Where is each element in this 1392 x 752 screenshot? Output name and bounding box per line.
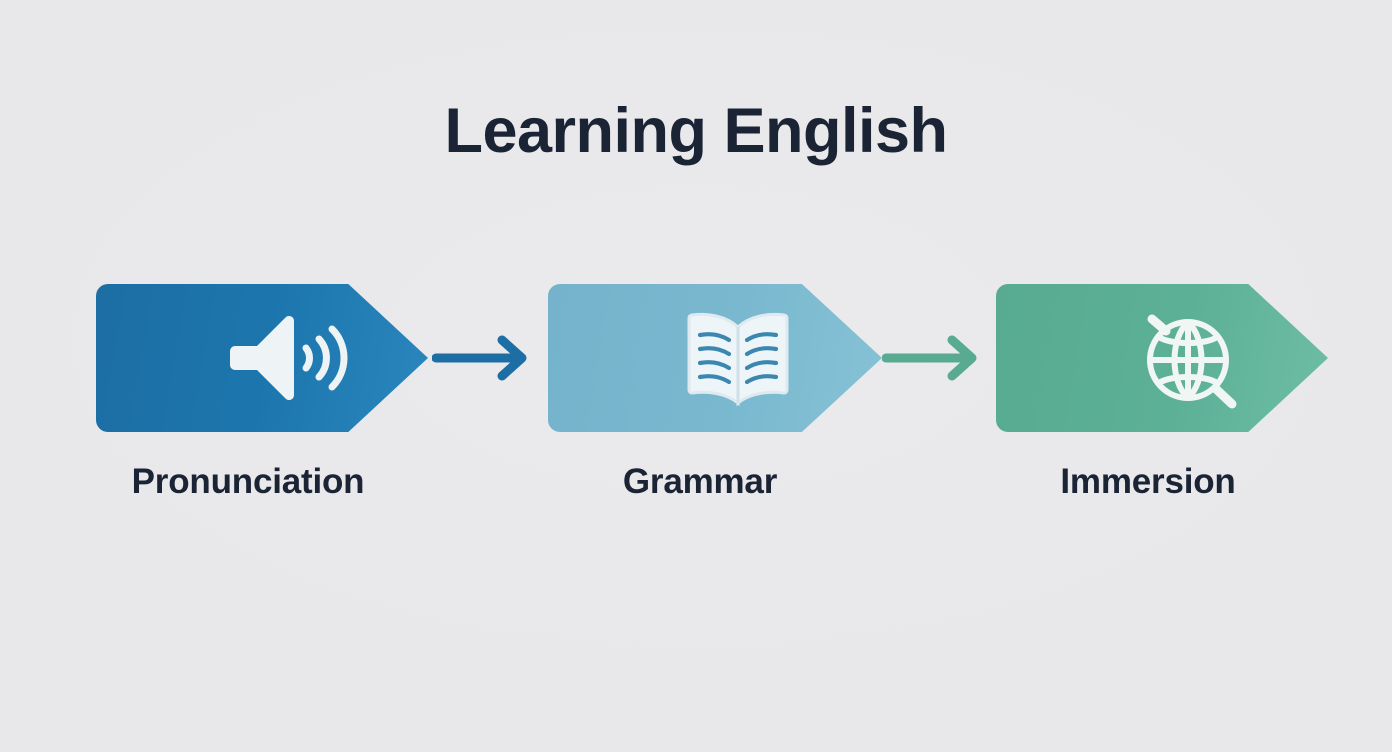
flow-label-grammar: Grammar bbox=[548, 462, 852, 502]
arrow-right-icon-2 bbox=[882, 332, 990, 384]
speaker-volume-icon bbox=[224, 306, 348, 410]
slide-canvas: Learning English bbox=[0, 0, 1392, 752]
flow-label-pronunciation: Pronunciation bbox=[96, 462, 400, 502]
flow-stage-pronunciation[interactable] bbox=[96, 284, 428, 432]
flow-stage-grammar[interactable] bbox=[548, 284, 882, 432]
page-title: Learning English bbox=[0, 98, 1392, 164]
flow-label-immersion: Immersion bbox=[996, 462, 1300, 502]
globe-magnifier-icon bbox=[1124, 306, 1248, 410]
arrow-right-icon-1 bbox=[432, 332, 540, 384]
flow-stage-immersion[interactable] bbox=[996, 284, 1328, 432]
open-book-icon bbox=[676, 306, 800, 410]
process-flow bbox=[96, 284, 1328, 432]
